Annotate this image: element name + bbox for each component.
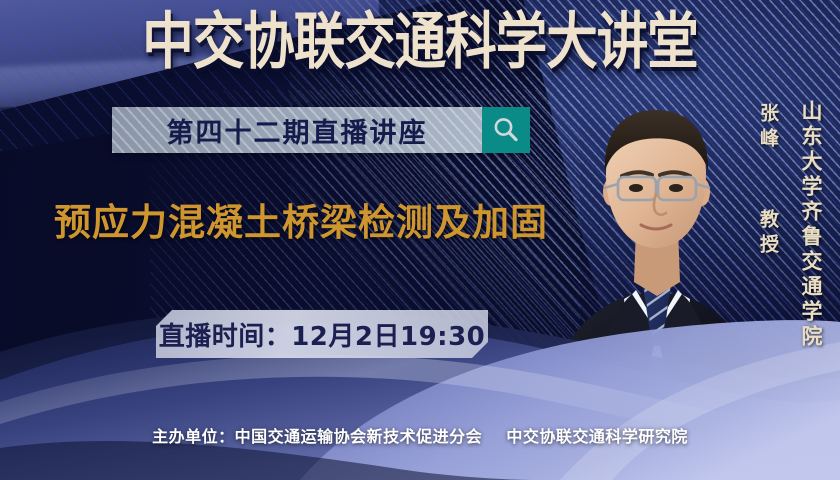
series-label: 第四十二期直播讲座 (167, 111, 428, 150)
search-icon (491, 115, 521, 145)
silk-ribbon-decoration (0, 260, 840, 480)
page-title: 中交协联交通科学大讲堂 (4, 12, 836, 73)
lecture-title: 预应力混凝土桥梁检测及加固 (54, 192, 548, 246)
series-search-bar[interactable]: 第四十二期直播讲座 (112, 107, 530, 153)
promotional-poster: 中交协联交通科学大讲堂 第四十二期直播讲座 预应力混凝土桥梁检测及加固 直播时间… (0, 0, 840, 480)
speaker-name: 张峰 教授 (755, 103, 782, 259)
broadcast-time-badge: 直播时间：12月2日19:30 (156, 310, 488, 358)
broadcast-time-text: 直播时间：12月2日19:30 (159, 316, 486, 353)
organizer-footer: 主办单位：中国交通运输协会新技术促进分会 中交协联交通科学研究院 (0, 423, 840, 447)
speaker-affiliation: 山东大学齐鲁交通学院 (796, 100, 826, 350)
search-button[interactable] (482, 107, 530, 153)
series-label-field[interactable]: 第四十二期直播讲座 (112, 107, 482, 153)
